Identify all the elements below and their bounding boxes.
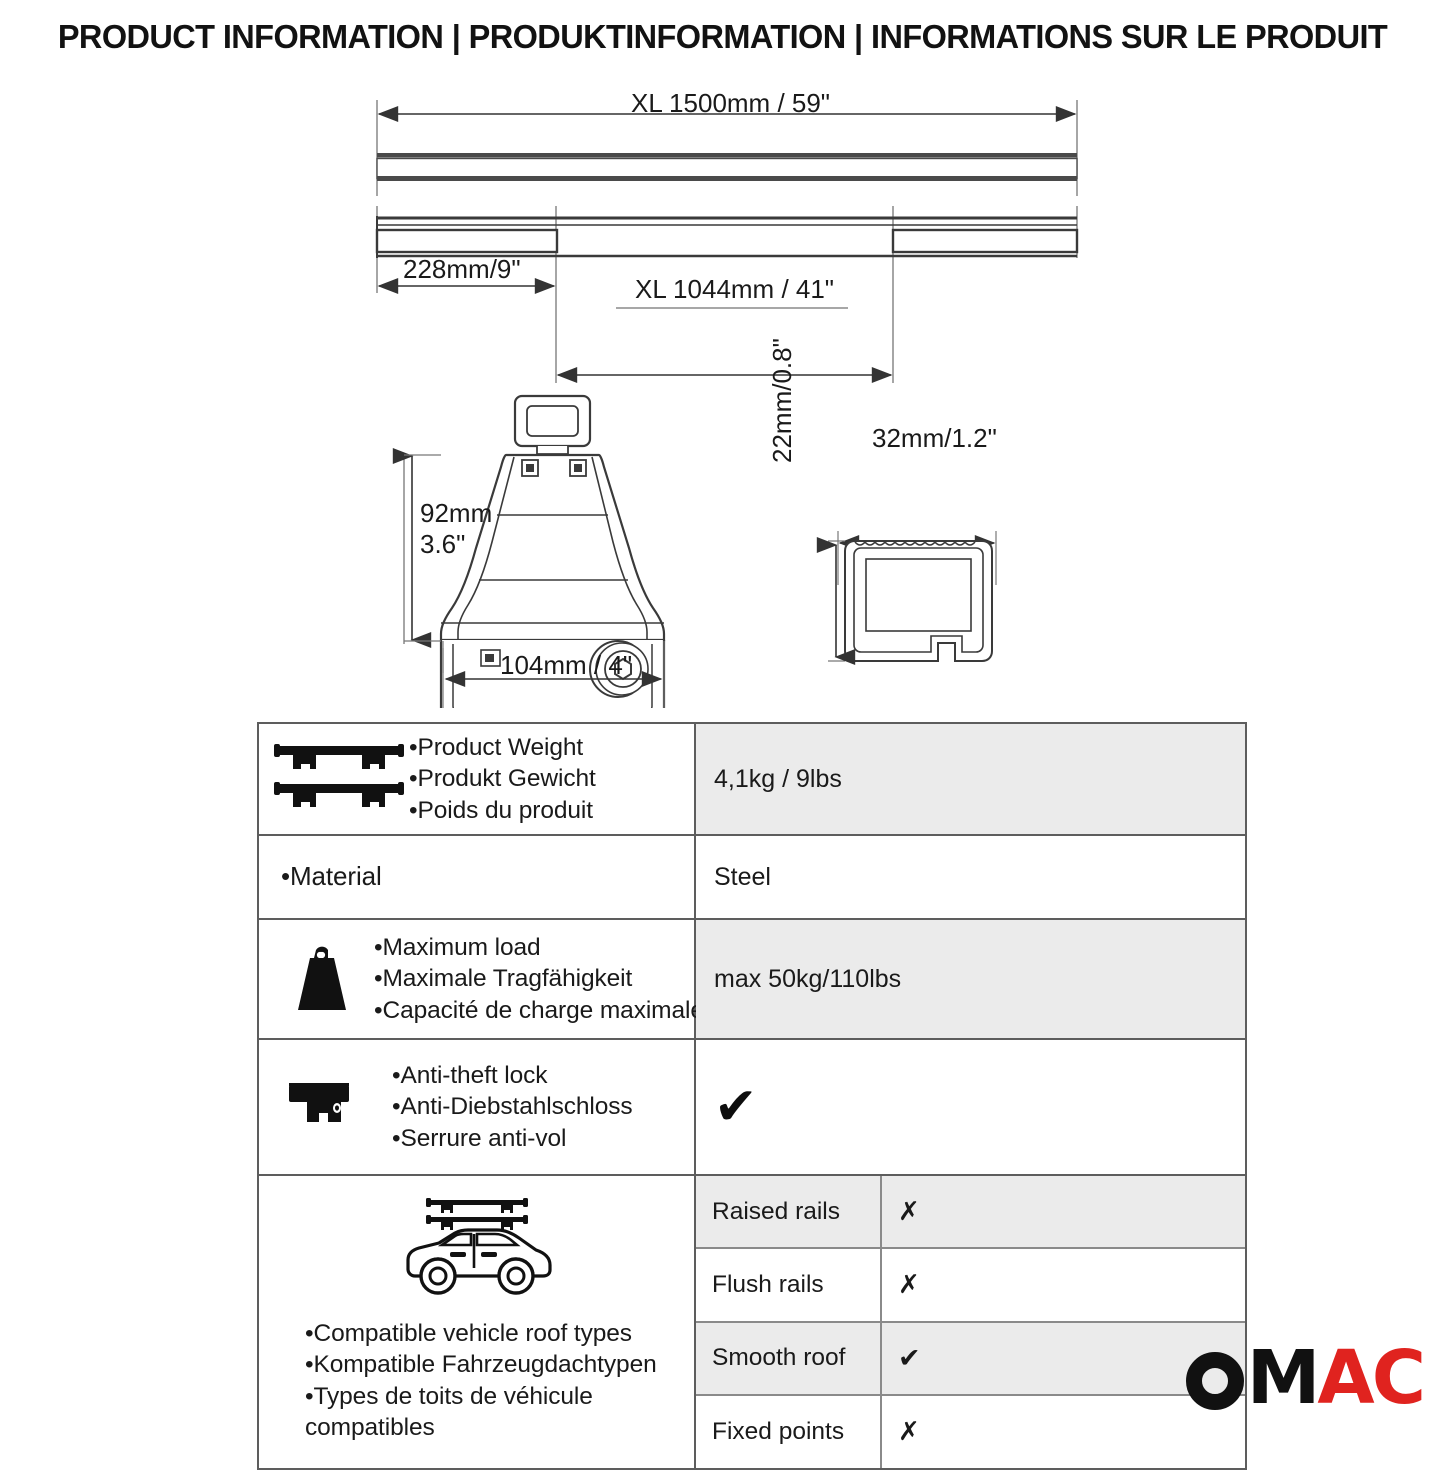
cross-icon: ✗ (882, 1249, 1245, 1320)
label-line-fr: •Capacité de charge maximale (374, 995, 704, 1026)
label-line-fr-cont: compatibles (305, 1412, 684, 1443)
roof-type-fixed-points: Fixed points ✗ (696, 1396, 1245, 1468)
label-line-en: •Product Weight (409, 732, 596, 763)
crossbars-icon (269, 742, 409, 816)
roof-type-raised-rails: Raised rails ✗ (696, 1176, 1245, 1249)
weight-icon (269, 940, 374, 1018)
roof-types-list: Raised rails ✗ Flush rails ✗ Smooth roof… (696, 1176, 1245, 1468)
label-line-en: •Maximum load (374, 932, 704, 963)
row-value-maximum-load: max 50kg/110lbs (696, 920, 1245, 1038)
label-line-de: •Produkt Gewicht (409, 763, 596, 794)
technical-drawing: XL 1500mm / 59" 228mm/9" XL 1044mm / 41"… (0, 78, 1445, 708)
row-label-cell: •Product Weight •Produkt Gewicht •Poids … (259, 724, 696, 834)
dim-profile-height: 22mm/0.8" (767, 338, 798, 463)
table-row-product-weight: •Product Weight •Produkt Gewicht •Poids … (259, 724, 1245, 836)
label-line-en: •Compatible vehicle roof types (305, 1318, 684, 1349)
page-title-bar: PRODUCT INFORMATION | PRODUKTINFORMATION… (0, 18, 1445, 56)
row-label-text: •Material (281, 860, 382, 893)
dim-foot-offset: 228mm/9" (403, 254, 521, 285)
logo-letters-ac: AC (1317, 1341, 1423, 1415)
row-label-text: •Maximum load •Maximale Tragfähigkeit •C… (374, 932, 704, 1025)
dim-foot-height-mm: 92mm (420, 498, 492, 529)
label-line-fr: •Serrure anti-vol (392, 1123, 633, 1154)
dim-profile-width: 32mm/1.2" (872, 423, 997, 454)
dim-foot-width: 104mm / 4" (500, 650, 632, 681)
label-line-fr: •Types de toits de véhicule (305, 1381, 684, 1412)
row-label-cell: •Maximum load •Maximale Tragfähigkeit •C… (259, 920, 696, 1038)
roof-type-flush-rails: Flush rails ✗ (696, 1249, 1245, 1322)
check-icon: ✔ (714, 1081, 758, 1133)
omac-logo: M AC (1186, 1341, 1423, 1415)
row-label-text: •Anti-theft lock •Anti-Diebstahlschloss … (374, 1060, 633, 1153)
label-line-en: •Material (281, 860, 382, 893)
roof-type-name: Flush rails (696, 1249, 882, 1320)
table-row-maximum-load: •Maximum load •Maximale Tragfähigkeit •C… (259, 920, 1245, 1040)
lock-icon (269, 1077, 374, 1137)
page-title: PRODUCT INFORMATION | PRODUKTINFORMATION… (11, 18, 1434, 56)
roof-type-name: Fixed points (696, 1396, 882, 1468)
roof-label-cell: •Compatible vehicle roof types •Kompatib… (259, 1176, 696, 1468)
logo-letter-o (1186, 1352, 1244, 1410)
spec-table: •Product Weight •Produkt Gewicht •Poids … (257, 722, 1247, 1470)
label-line-de: •Kompatible Fahrzeugdachtypen (305, 1349, 684, 1380)
row-label-text: •Product Weight •Produkt Gewicht •Poids … (409, 732, 596, 825)
row-label-cell: •Anti-theft lock •Anti-Diebstahlschloss … (259, 1040, 696, 1174)
logo-letter-m: M (1247, 1341, 1318, 1415)
row-value-anti-theft-lock: ✔ (696, 1040, 1245, 1174)
car-with-rack-icon (273, 1186, 684, 1302)
roof-label-text: •Compatible vehicle roof types •Kompatib… (273, 1318, 684, 1443)
row-value-material: Steel (696, 836, 1245, 918)
cross-icon: ✗ (882, 1176, 1245, 1247)
dim-foot-height-in: 3.6" (420, 529, 492, 560)
dim-bar-length: XL 1500mm / 59" (631, 88, 830, 119)
roof-type-smooth-roof: Smooth roof ✔ (696, 1323, 1245, 1396)
label-line-en: •Anti-theft lock (392, 1060, 633, 1091)
row-label-cell: •Material (259, 836, 696, 918)
label-line-de: •Anti-Diebstahlschloss (392, 1091, 633, 1122)
product-information-sheet: PRODUCT INFORMATION | PRODUKTINFORMATION… (0, 0, 1445, 1445)
dim-foot-height: 92mm 3.6" (420, 498, 492, 560)
roof-type-name: Smooth roof (696, 1323, 882, 1394)
roof-type-name: Raised rails (696, 1176, 882, 1247)
label-line-de: •Maximale Tragfähigkeit (374, 963, 704, 994)
table-row-anti-theft-lock: •Anti-theft lock •Anti-Diebstahlschloss … (259, 1040, 1245, 1176)
table-row-roof-types: •Compatible vehicle roof types •Kompatib… (259, 1176, 1245, 1468)
row-value-product-weight: 4,1kg / 9lbs (696, 724, 1245, 834)
table-row-material: •Material Steel (259, 836, 1245, 920)
label-line-fr: •Poids du produit (409, 795, 596, 826)
dim-bar-span: XL 1044mm / 41" (635, 274, 834, 305)
